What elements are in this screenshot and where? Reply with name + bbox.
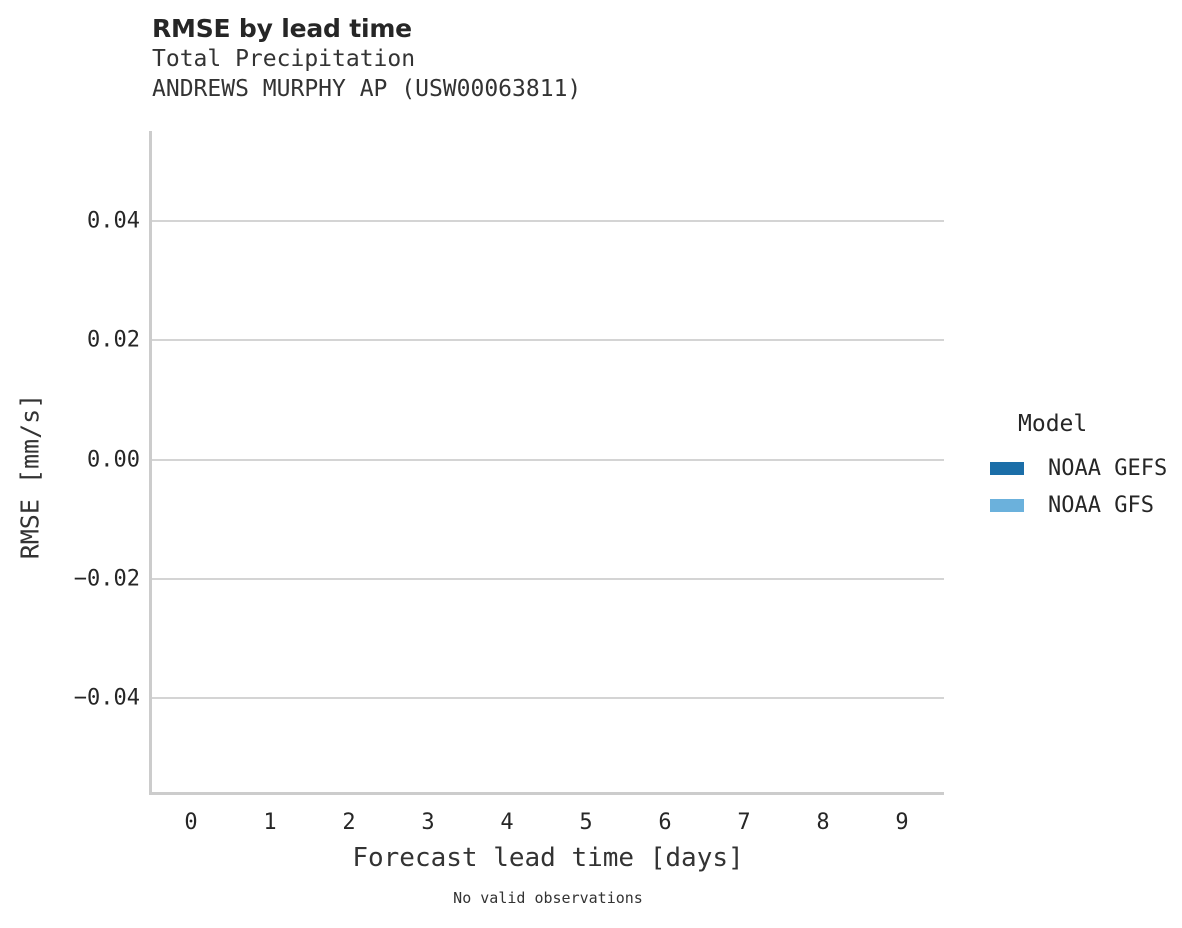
legend-swatch-icon bbox=[990, 499, 1024, 512]
legend-entries: NOAA GEFSNOAA GFS bbox=[990, 450, 1167, 524]
legend-title: Model bbox=[1018, 411, 1167, 437]
x-tick-label: 3 bbox=[408, 810, 448, 835]
y-tick-label: 0.02 bbox=[30, 328, 140, 353]
x-tick-label: 9 bbox=[882, 810, 922, 835]
x-tick-label: 1 bbox=[250, 810, 290, 835]
y-axis-title: RMSE [mm/s] bbox=[16, 347, 45, 607]
x-axis-title: Forecast lead time [days] bbox=[152, 843, 944, 873]
y-tick-label: −0.04 bbox=[30, 686, 140, 711]
title-block: RMSE by lead time Total Precipitation AN… bbox=[152, 14, 852, 104]
chart-subtitle-variable: Total Precipitation bbox=[152, 44, 852, 74]
x-tick-label: 8 bbox=[803, 810, 843, 835]
y-axis-spine bbox=[149, 131, 152, 795]
legend-item[interactable]: NOAA GFS bbox=[990, 487, 1167, 524]
gridline bbox=[152, 578, 944, 580]
y-tick-label: 0.00 bbox=[30, 448, 140, 473]
legend: Model NOAA GEFSNOAA GFS bbox=[990, 411, 1167, 524]
legend-item[interactable]: NOAA GEFS bbox=[990, 450, 1167, 487]
x-tick-label: 7 bbox=[724, 810, 764, 835]
plot-area bbox=[152, 131, 944, 793]
chart-subtitle-station: ANDREWS MURPHY AP (USW00063811) bbox=[152, 74, 852, 104]
x-axis-spine bbox=[152, 792, 944, 795]
legend-item-label: NOAA GEFS bbox=[1048, 456, 1167, 481]
gridline bbox=[152, 697, 944, 699]
gridline bbox=[152, 220, 944, 222]
legend-item-label: NOAA GFS bbox=[1048, 493, 1154, 518]
x-tick-label: 2 bbox=[329, 810, 369, 835]
legend-swatch-icon bbox=[990, 462, 1024, 475]
gridline bbox=[152, 459, 944, 461]
x-tick-label: 0 bbox=[171, 810, 211, 835]
y-tick-label: −0.02 bbox=[30, 567, 140, 592]
gridline bbox=[152, 339, 944, 341]
y-tick-label: 0.04 bbox=[30, 209, 140, 234]
no-data-note: No valid observations bbox=[152, 889, 944, 907]
page-title: RMSE by lead time bbox=[152, 14, 852, 44]
x-tick-label: 5 bbox=[566, 810, 606, 835]
x-tick-label: 4 bbox=[487, 810, 527, 835]
x-tick-label: 6 bbox=[645, 810, 685, 835]
